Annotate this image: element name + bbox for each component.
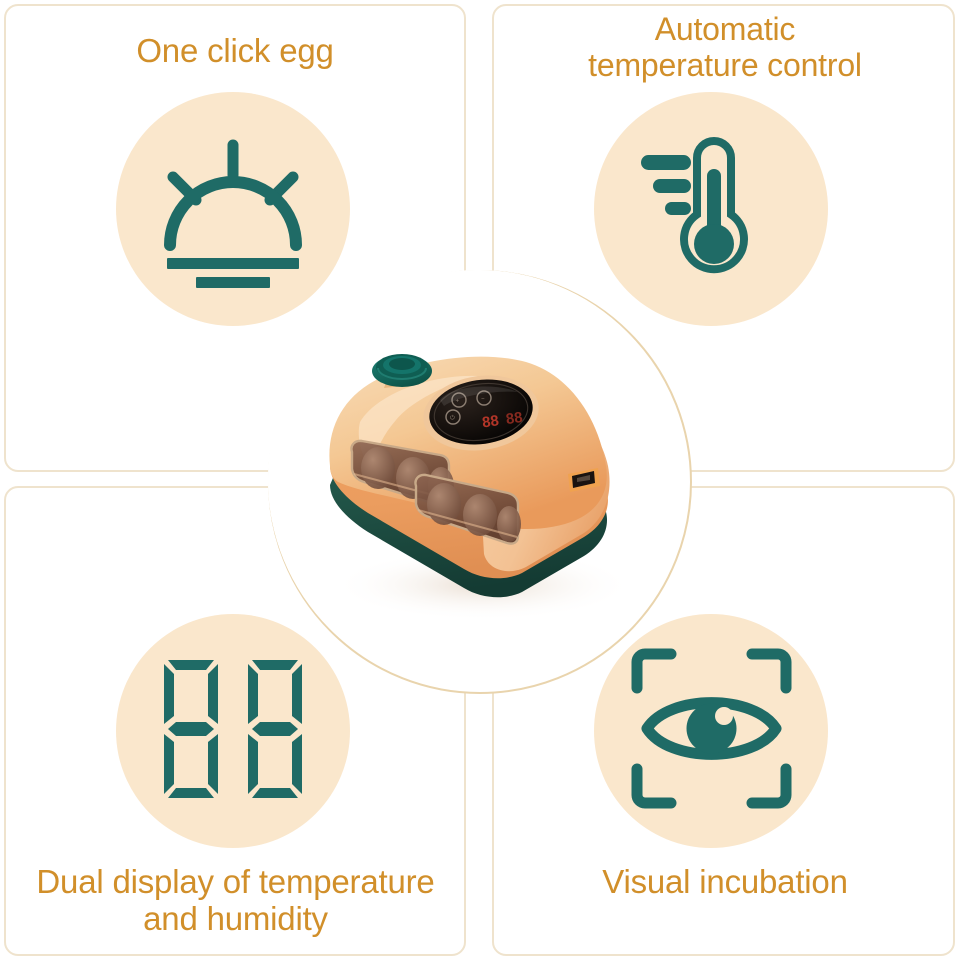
svg-text:−: − xyxy=(481,397,485,403)
sunrise-icon xyxy=(143,117,323,302)
icon-circle-automatic-temperature-control xyxy=(594,92,828,326)
feature-grid: One click egg xyxy=(0,0,959,960)
icon-circle-one-click-egg xyxy=(116,92,350,326)
eye-scan-icon xyxy=(629,646,794,816)
svg-text:88: 88 xyxy=(481,412,500,431)
caption-one-click-egg: One click egg xyxy=(30,33,440,70)
icon-circle-visual-incubation xyxy=(594,614,828,848)
seven-segment-display-icon xyxy=(148,644,318,819)
caption-dual-display: Dual display of temperature and humidity xyxy=(8,864,463,938)
svg-text:⏻: ⏻ xyxy=(450,415,455,422)
icon-circle-dual-display xyxy=(116,614,350,848)
caption-visual-incubation: Visual incubation xyxy=(500,864,950,901)
svg-text:88: 88 xyxy=(505,409,524,428)
caption-automatic-temperature-control: Automatic temperature control xyxy=(510,12,940,84)
product-photo-egg-incubator: + − ⏻ 88 88 xyxy=(268,270,688,690)
thermometer-icon xyxy=(621,117,801,302)
